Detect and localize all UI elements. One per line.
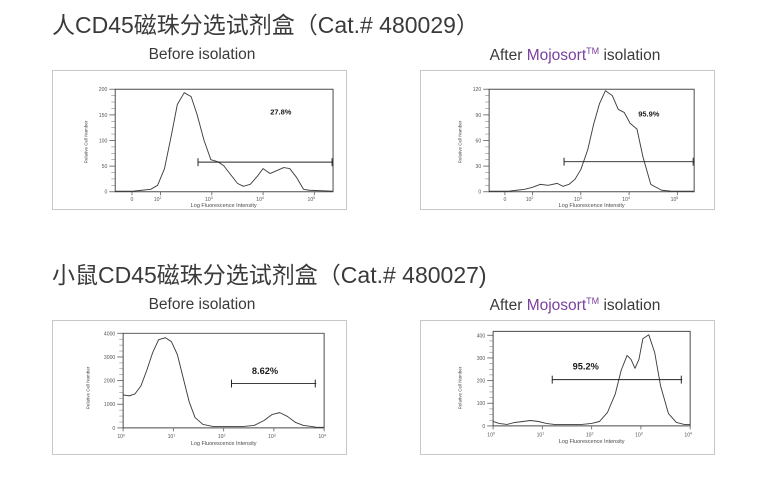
histogram-curve-1 — [489, 91, 694, 192]
gate-percent-label-3: 95.2% — [573, 361, 599, 371]
chart-panel-mouse-after: Relative Cell Number 400 300 200 100 0 — [420, 320, 715, 455]
x-tick-2-3: 103 — [268, 433, 276, 440]
x-axis-title-3: Log Fluorescence Intensity — [559, 439, 625, 445]
x-tick-2-0: 100 — [117, 433, 125, 440]
gate-percent-label-0: 27.8% — [270, 108, 292, 117]
x-tick-3-4: 104 — [684, 431, 692, 438]
after-suffix-mouse: isolation — [599, 297, 660, 314]
y-tick-0-2: 100 — [99, 139, 108, 145]
y-tick-0-1: 50 — [102, 164, 108, 170]
after-suffix-human: isolation — [599, 47, 660, 64]
y-tick-2-0: 0 — [112, 426, 115, 432]
y-axis-3: 400 300 200 100 0 — [477, 333, 493, 430]
brand-mojosort-mouse: Mojosort — [527, 297, 586, 314]
charts-row-human: Relative Cell Number 200 150 100 50 0 — [0, 70, 772, 210]
trademark-icon-mouse: TM — [586, 296, 599, 306]
panel-header-after-human: After MojosortTM isolation — [420, 46, 730, 65]
chart-panel-mouse-before: Relative Cell Number 4000 3000 2000 1000… — [52, 320, 347, 455]
x-tick-3-2: 102 — [586, 431, 594, 438]
x-tick-3-3: 103 — [635, 431, 643, 438]
gate-marker-1 — [564, 158, 694, 166]
trademark-icon-human: TM — [586, 46, 599, 56]
kit-title-human: 人CD45磁珠分选试剂盒（Cat.# 480029） — [0, 0, 772, 40]
panel-header-before-mouse-text: Before isolation — [149, 296, 256, 313]
y-tick-1-2: 60 — [476, 139, 482, 145]
after-prefix-mouse: After — [490, 297, 527, 314]
panel-headers-mouse: Before isolation After MojosortTM isolat… — [0, 296, 772, 315]
histogram-mouse-after: Relative Cell Number 400 300 200 100 0 — [421, 321, 714, 454]
y-tick-0-4: 200 — [99, 87, 108, 93]
y-axis-0: 200 150 100 50 0 — [99, 87, 115, 196]
panel-header-before-human: Before isolation — [52, 46, 352, 65]
y-axis-2: 4000 3000 2000 1000 0 — [104, 331, 123, 432]
after-prefix-human: After — [490, 47, 527, 64]
y-tick-3-0: 0 — [482, 424, 485, 430]
histogram-mouse-before: Relative Cell Number 4000 3000 2000 1000… — [53, 321, 346, 454]
x-axis-2: 100 101 102 103 104 — [117, 428, 326, 440]
y-tick-1-1: 30 — [476, 164, 482, 170]
y-axis-title-3: Relative Cell Number — [458, 366, 463, 409]
x-tick-0-1: 102 — [154, 196, 162, 203]
section-human-cd45: 人CD45磁珠分选试剂盒（Cat.# 480029） Before isolat… — [0, 0, 772, 247]
x-tick-1-1: 102 — [526, 196, 534, 203]
x-axis-title-2: Log Fluorescence Intensity — [191, 441, 257, 447]
x-axis-1: 0 102 103 104 105 — [503, 192, 678, 203]
y-tick-3-1: 100 — [477, 401, 486, 407]
x-axis-title-1: Log Fluorescence Intensity — [559, 203, 625, 209]
y-tick-0-0: 0 — [104, 190, 107, 196]
x-tick-1-0: 0 — [503, 197, 506, 203]
gate-marker-0 — [198, 158, 333, 166]
x-tick-0-4: 105 — [308, 196, 316, 203]
histogram-human-before: Relative Cell Number 200 150 100 50 0 — [53, 71, 346, 209]
y-axis-title-2: Relative Cell Number — [86, 366, 91, 409]
gate-percent-label-1: 95.9% — [638, 109, 660, 118]
y-tick-0-3: 150 — [99, 113, 108, 119]
chart-panel-human-after: Relative Cell Number 120 90 60 30 0 — [420, 70, 715, 210]
y-tick-1-3: 90 — [476, 113, 482, 119]
brand-mojosort-human: Mojosort — [527, 47, 586, 64]
y-axis-title-0: Relative Cell Number — [84, 120, 89, 163]
gate-marker-2 — [232, 380, 317, 388]
x-tick-3-0: 100 — [487, 431, 495, 438]
x-axis-3: 100 101 102 103 104 — [487, 426, 692, 438]
y-tick-2-3: 3000 — [104, 355, 116, 361]
gate-percent-label-2: 8.62% — [252, 366, 278, 376]
y-tick-3-3: 300 — [477, 356, 486, 362]
kit-title-mouse: 小鼠CD45磁珠分选试剂盒（Cat.# 480027) — [0, 247, 772, 290]
y-tick-3-2: 200 — [477, 379, 486, 385]
x-tick-1-4: 105 — [671, 196, 679, 203]
panel-header-after-mouse: After MojosortTM isolation — [420, 296, 730, 315]
y-tick-2-4: 4000 — [104, 331, 116, 337]
y-axis-1: 120 90 60 30 0 — [473, 87, 489, 196]
x-tick-2-4: 104 — [318, 433, 326, 440]
histogram-curve-0 — [115, 93, 333, 192]
x-axis-title-0: Log Fluorescence Intensity — [191, 203, 257, 209]
x-axis-0: 0 102 103 104 105 — [131, 192, 316, 203]
x-tick-0-0: 0 — [131, 197, 134, 203]
panel-headers-human: Before isolation After MojosortTM isolat… — [0, 46, 772, 65]
x-tick-2-2: 102 — [218, 433, 226, 440]
y-tick-1-0: 0 — [478, 190, 481, 196]
chart-panel-human-before: Relative Cell Number 200 150 100 50 0 — [52, 70, 347, 210]
x-tick-0-3: 104 — [256, 196, 264, 203]
y-axis-title-1: Relative Cell Number — [458, 120, 463, 163]
x-tick-2-1: 101 — [168, 433, 176, 440]
y-tick-3-4: 400 — [477, 333, 486, 339]
y-tick-1-4: 120 — [473, 87, 482, 93]
y-tick-2-2: 2000 — [104, 379, 116, 385]
x-tick-3-1: 101 — [537, 431, 545, 438]
panel-header-before-mouse: Before isolation — [52, 296, 352, 315]
y-tick-2-1: 1000 — [104, 402, 116, 408]
section-mouse-cd45: 小鼠CD45磁珠分选试剂盒（Cat.# 480027) Before isola… — [0, 247, 772, 494]
charts-row-mouse: Relative Cell Number 4000 3000 2000 1000… — [0, 320, 772, 455]
histogram-human-after: Relative Cell Number 120 90 60 30 0 — [421, 71, 714, 209]
gate-marker-3 — [552, 376, 682, 384]
panel-header-before-human-text: Before isolation — [149, 46, 256, 63]
histogram-curve-2 — [123, 338, 324, 428]
